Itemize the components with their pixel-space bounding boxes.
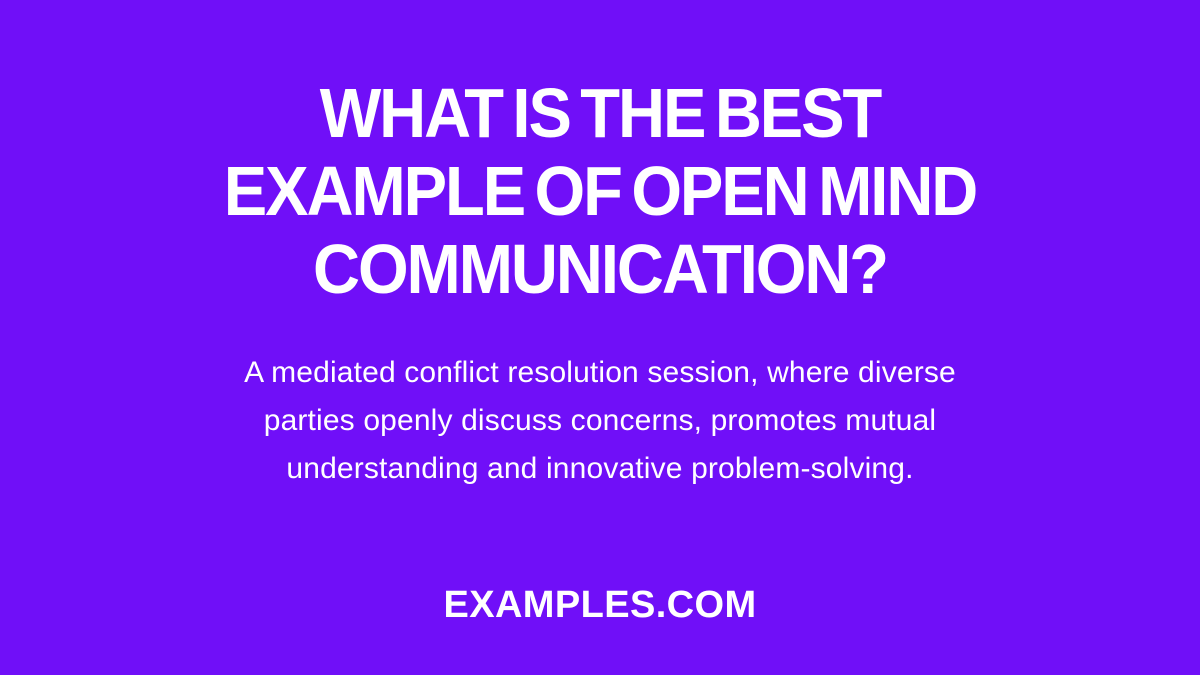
headline-line-3: COMMUNICATION? <box>42 230 1158 308</box>
body-line-2: parties openly discuss concerns, promote… <box>0 397 1200 445</box>
brand-wordmark: EXAMPLES.COM <box>0 583 1200 627</box>
body-line-3: understanding and innovative problem-sol… <box>0 445 1200 493</box>
body-paragraph: A mediated conflict resolution session, … <box>0 349 1200 493</box>
body-line-1: A mediated conflict resolution session, … <box>0 349 1200 397</box>
example-card: WHAT IS THE BEST EXAMPLE OF OPEN MIND CO… <box>0 0 1200 675</box>
page-title: WHAT IS THE BEST EXAMPLE OF OPEN MIND CO… <box>42 74 1158 308</box>
headline-line-2: EXAMPLE OF OPEN MIND <box>42 152 1158 230</box>
headline-line-1: WHAT IS THE BEST <box>42 74 1158 152</box>
